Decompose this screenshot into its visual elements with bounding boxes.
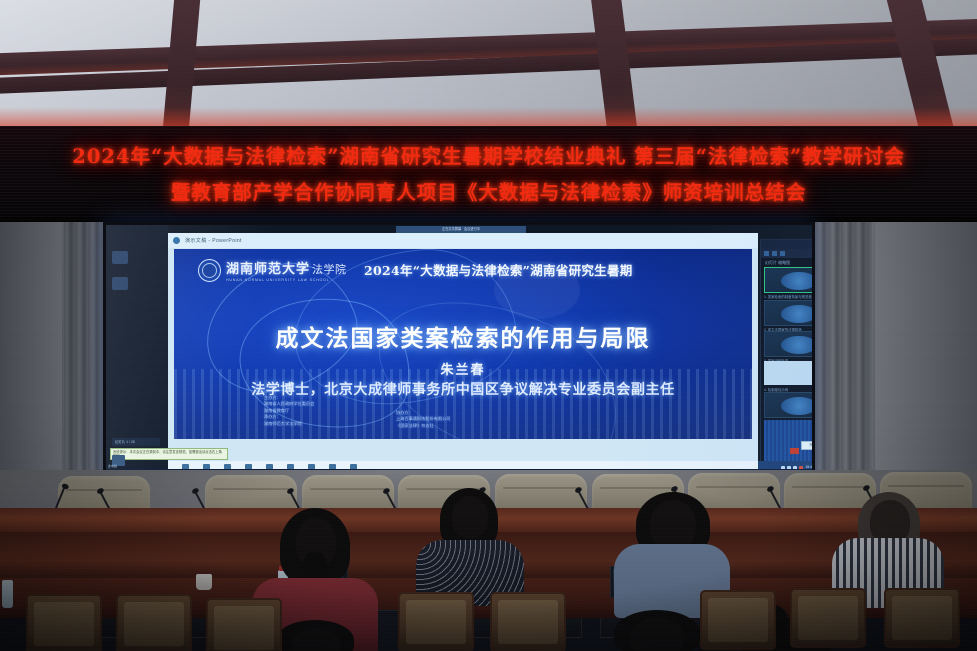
university-logo: 湖南师范大学 法学院 HUNAN NORMAL UNIVERSITY LAW S… bbox=[198, 258, 347, 282]
slide-title: 成文法国家类案检索的作用与局限 bbox=[174, 319, 752, 353]
logo-chinese-name: 湖南师范大学 bbox=[226, 258, 310, 277]
desktop-background: 演示文稿 - PowerPoint 正在共享屏幕 · 会议进行中 湖南师范大学 bbox=[106, 225, 812, 480]
projection-screen-content: 演示文稿 - PowerPoint 正在共享屏幕 · 会议进行中 湖南师范大学 bbox=[106, 225, 812, 480]
audience-chair bbox=[790, 588, 866, 648]
window-titlebar[interactable]: 演示文稿 - PowerPoint bbox=[168, 233, 758, 248]
audience-chair bbox=[490, 592, 566, 651]
presentation-slide: 湖南师范大学 法学院 HUNAN NORMAL UNIVERSITY LAW S… bbox=[174, 249, 752, 439]
thumbnail-item-2[interactable]: 2. 成文法国家的法源构造 bbox=[764, 300, 812, 332]
thumbnail-oval-1 bbox=[781, 272, 812, 290]
led-banner: 2024年“大数据与法律检索”湖南省研究生暑期学校结业典礼 第三届“法律检索”教… bbox=[0, 126, 977, 226]
audience-chair bbox=[700, 590, 776, 650]
toolbar-icon-2[interactable] bbox=[772, 251, 777, 256]
slide-counter-badge: 幻灯片 1 / 28 bbox=[112, 438, 160, 446]
thumbnail-image-5 bbox=[764, 392, 812, 418]
thumbnail-caption-1: 1. 类案检索的制度背景与规范依据 bbox=[764, 294, 812, 299]
audience-chair bbox=[884, 588, 960, 648]
audience-chair bbox=[26, 594, 102, 651]
ceiling bbox=[0, 0, 977, 133]
screenshot-root: 2024年“大数据与法律检索”湖南省研究生暑期学校结业典礼 第三届“法律检索”教… bbox=[0, 0, 977, 651]
thumbnail-oval-5 bbox=[781, 397, 812, 415]
sharing-toast: 正在共享屏幕 · 会议进行中 bbox=[396, 226, 526, 233]
desktop-icon-1[interactable] bbox=[112, 251, 128, 264]
thumbnail-panel-header: 幻灯片 缩略图 bbox=[765, 260, 790, 266]
university-seal-icon bbox=[198, 259, 221, 282]
slide-presenter-name: 朱兰春 bbox=[174, 359, 752, 378]
water-bottle bbox=[2, 580, 13, 608]
toolbar-icon-3[interactable] bbox=[780, 251, 785, 256]
thumbnail-image-4[interactable] bbox=[764, 361, 812, 385]
thumbnail-panel-titlebar[interactable]: – □ ✕ bbox=[761, 240, 812, 249]
slide-credit-cohosts: 协办方： 上海百事通科技股份有限公司 《国家法律》杂志社 bbox=[396, 410, 450, 430]
thumbnail-item-1[interactable]: 1. 类案检索的制度背景与规范依据 bbox=[764, 267, 812, 299]
slide-thumbnail-panel: – □ ✕ 幻灯片 缩略图 1. 类案检索的制度背景与规范依据 2. 成文法国家… bbox=[760, 239, 812, 463]
app-logo-icon bbox=[173, 237, 180, 244]
slide-presenter-affiliation: 法学博士，北京大成律师事务所中国区争议解决专业委员会副主任 bbox=[174, 379, 752, 399]
toolbar-icon-1[interactable] bbox=[764, 251, 769, 256]
paper-cup bbox=[196, 574, 212, 590]
thumbnail-oval-3 bbox=[781, 336, 812, 354]
logo-english-name: HUNAN NORMAL UNIVERSITY LAW SCHOOL bbox=[226, 278, 347, 282]
audience-area bbox=[0, 470, 977, 651]
thumbnail-item-3[interactable]: 3. 类案识别标准 bbox=[764, 331, 812, 363]
desktop-icon-2[interactable] bbox=[112, 277, 128, 290]
slide-credit-organizers: 主办方： 湖南省人民政府学位委员会 湖南省教育厅 承办方： 湖南师范大学法学院 bbox=[264, 395, 314, 428]
window-title: 演示文稿 - PowerPoint bbox=[185, 237, 242, 244]
desktop-shortcut-label: 此电脑 bbox=[108, 464, 117, 468]
thumbnail-image-1 bbox=[764, 267, 812, 293]
projection-screen: 演示文稿 - PowerPoint 正在共享屏幕 · 会议进行中 湖南师范大学 bbox=[103, 222, 815, 483]
thumbnail-red-marker bbox=[790, 448, 799, 454]
thumbnail-image-3 bbox=[764, 331, 812, 357]
led-banner-line-2: 暨教育部产学合作协同育人项目《大数据与法律检索》师资培训总结会 bbox=[0, 176, 977, 205]
slide-header-text: 2024年“大数据与法律检索”湖南省研究生暑期 bbox=[364, 260, 633, 279]
audience-chair bbox=[398, 592, 474, 651]
led-banner-line-1: 2024年“大数据与法律检索”湖南省研究生暑期学校结业典礼 第三届“法律检索”教… bbox=[0, 140, 977, 169]
logo-chinese-suffix: 法学院 bbox=[312, 261, 347, 277]
start-slideshow-button[interactable]: 开始放映 bbox=[801, 441, 812, 450]
thumbnail-oval-2 bbox=[781, 305, 812, 323]
audience-chair bbox=[206, 598, 282, 651]
audience-chair bbox=[116, 594, 192, 651]
thumbnail-panel-toolbar[interactable] bbox=[761, 249, 812, 258]
notification-toast[interactable]: 系统提示：本次会议正在录制中，请注意发言规范。如需退出请点击右上角按钮。 bbox=[110, 448, 228, 460]
thumbnail-image-2 bbox=[764, 300, 812, 326]
